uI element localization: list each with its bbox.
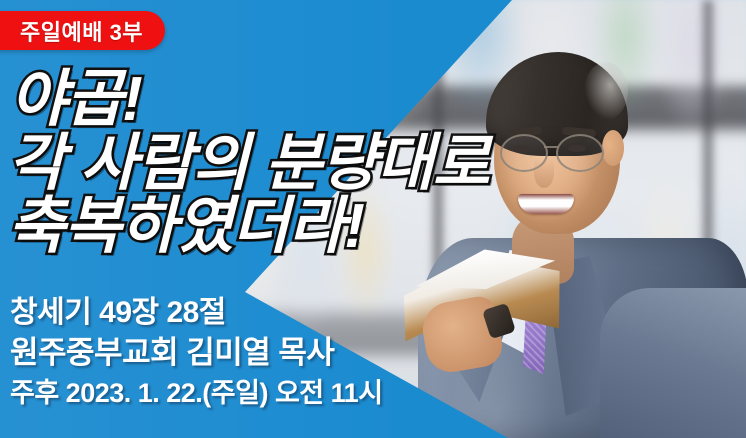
church-and-pastor: 원주중부교회 김미열 목사	[10, 336, 383, 371]
sermon-title-line-3: 축복하였더라!	[8, 197, 568, 257]
service-datetime: 주후 2023. 1. 22.(주일) 오전 11시	[10, 378, 383, 408]
service-badge-label: 주일예배 3부	[20, 15, 143, 47]
sermon-poster: 주일예배 3부 야곱! 각 사람의 분량대로 축복하였더라! 창세기 49장 2…	[0, 0, 746, 438]
scripture-reference: 창세기 49장 28절	[10, 296, 383, 330]
sermon-title-line-2: 각 사람의 분량대로	[8, 134, 568, 194]
poster-content: 주일예배 3부 야곱! 각 사람의 분량대로 축복하였더라! 창세기 49장 2…	[0, 0, 746, 438]
service-badge: 주일예배 3부	[0, 11, 165, 50]
sermon-title: 야곱! 각 사람의 분량대로 축복하였더라!	[8, 70, 568, 257]
sermon-details: 창세기 49장 28절 원주중부교회 김미열 목사 주후 2023. 1. 22…	[10, 296, 383, 409]
sermon-title-line-1: 야곱!	[10, 70, 568, 130]
